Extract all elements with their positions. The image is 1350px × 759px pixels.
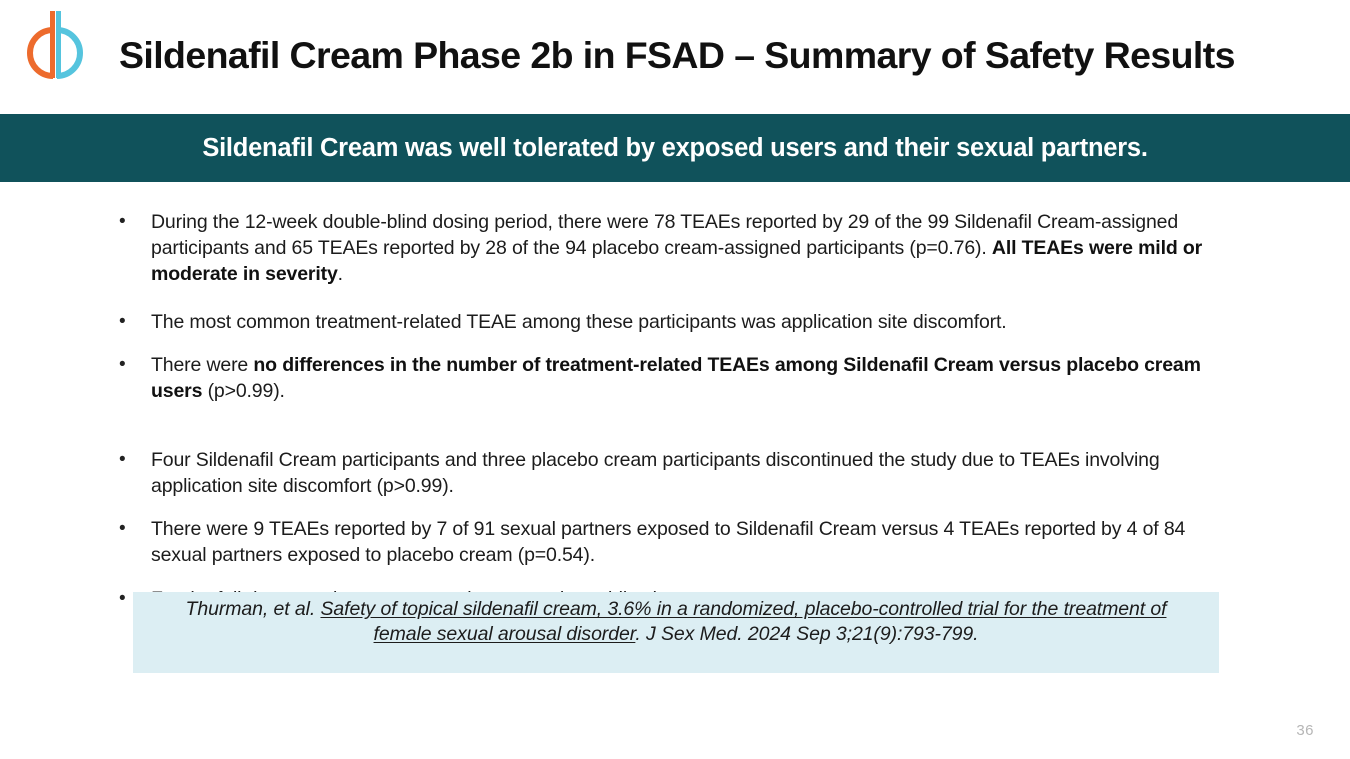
bullet-marker-icon: • (119, 516, 131, 542)
list-item: • There were no differences in the numbe… (0, 352, 1350, 404)
list-item-text: Four Sildenafil Cream participants and t… (151, 447, 1230, 499)
citation-source: . J Sex Med. 2024 Sep 3;21(9):793-799. (635, 623, 978, 645)
list-item-text: The most common treatment-related TEAE a… (151, 309, 1007, 335)
bullet-marker-icon: • (119, 209, 131, 235)
bullet-list: • During the 12-week double-blind dosing… (0, 182, 1350, 628)
bullet-marker-icon: • (119, 309, 131, 335)
list-item: • There were 9 TEAEs reported by 7 of 91… (0, 516, 1350, 568)
list-item-text: There were 9 TEAEs reported by 7 of 91 s… (151, 516, 1230, 568)
bullet-marker-icon: • (119, 352, 131, 378)
list-item: • The most common treatment-related TEAE… (0, 309, 1350, 335)
dare-bioscience-logo (24, 4, 84, 88)
summary-banner-text: Sildenafil Cream was well tolerated by e… (202, 134, 1147, 163)
summary-banner: Sildenafil Cream was well tolerated by e… (0, 114, 1350, 182)
citation-text: Thurman, et al. Safety of topical silden… (156, 597, 1196, 647)
page-title: Sildenafil Cream Phase 2b in FSAD – Summ… (119, 30, 1235, 80)
list-item: • Four Sildenafil Cream participants and… (0, 447, 1350, 499)
list-item-text: During the 12-week double-blind dosing p… (151, 209, 1230, 287)
slide-header: Sildenafil Cream Phase 2b in FSAD – Summ… (0, 0, 1350, 114)
list-item: • During the 12-week double-blind dosing… (0, 209, 1350, 287)
citation-box: Thurman, et al. Safety of topical silden… (133, 592, 1219, 673)
page-number: 36 (1296, 722, 1314, 739)
slide: Sildenafil Cream Phase 2b in FSAD – Summ… (0, 0, 1350, 759)
list-item-text: There were no differences in the number … (151, 352, 1230, 404)
bullet-marker-icon: • (119, 586, 131, 612)
bullet-marker-icon: • (119, 447, 131, 473)
citation-authors: Thurman, et al. (186, 598, 321, 620)
